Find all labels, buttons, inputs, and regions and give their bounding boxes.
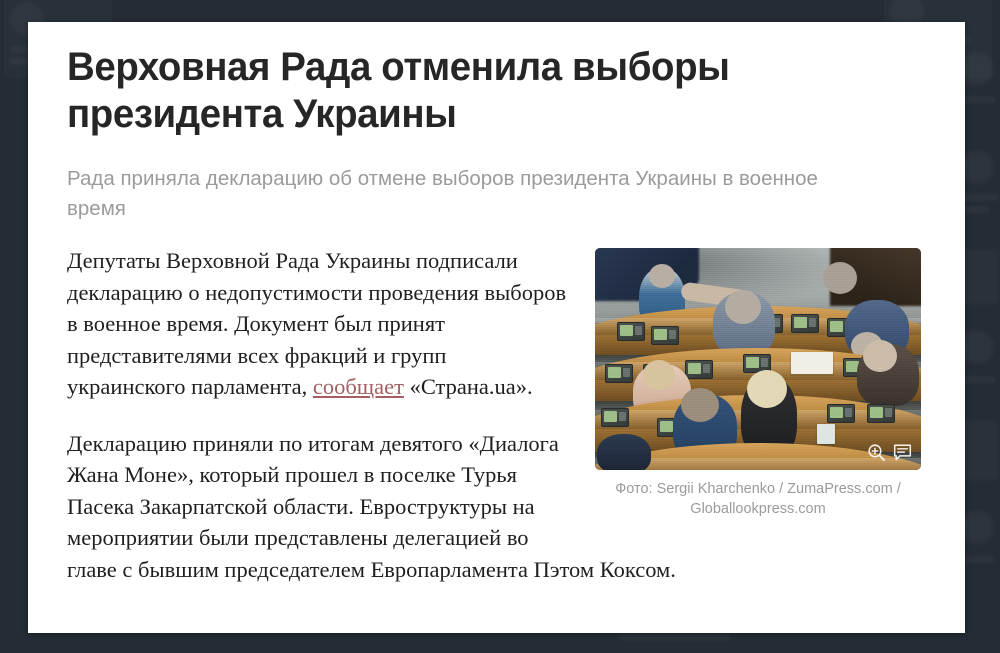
comment-icon[interactable] (893, 443, 912, 462)
photo-grain-overlay (595, 248, 921, 470)
backdrop-text-line (620, 634, 730, 641)
article-subhead: Рада приняла декларацию об отмене выборо… (67, 164, 867, 224)
paragraph-1-text-after-link: «Страна.ua». (404, 374, 533, 399)
photo-action-icons (867, 443, 912, 462)
backdrop-avatar-icon (960, 52, 994, 86)
article-figure: Фото: Sergii Kharchenko / ZumaPress.com … (595, 248, 921, 519)
backdrop-avatar-icon (960, 330, 994, 364)
article-photo[interactable] (595, 248, 921, 470)
photo-caption: Фото: Sergii Kharchenko / ZumaPress.com … (595, 479, 921, 519)
page-title: Верховная Рада отменила выборы президент… (67, 44, 797, 138)
backdrop-avatar-icon (960, 150, 994, 184)
source-link[interactable]: сообщает (313, 374, 404, 399)
backdrop-avatar-icon (960, 510, 994, 544)
article-body: Фото: Sergii Kharchenko / ZumaPress.com … (67, 245, 921, 585)
article-card: Верховная Рада отменила выборы президент… (28, 22, 965, 633)
zoom-in-icon[interactable] (867, 443, 886, 462)
